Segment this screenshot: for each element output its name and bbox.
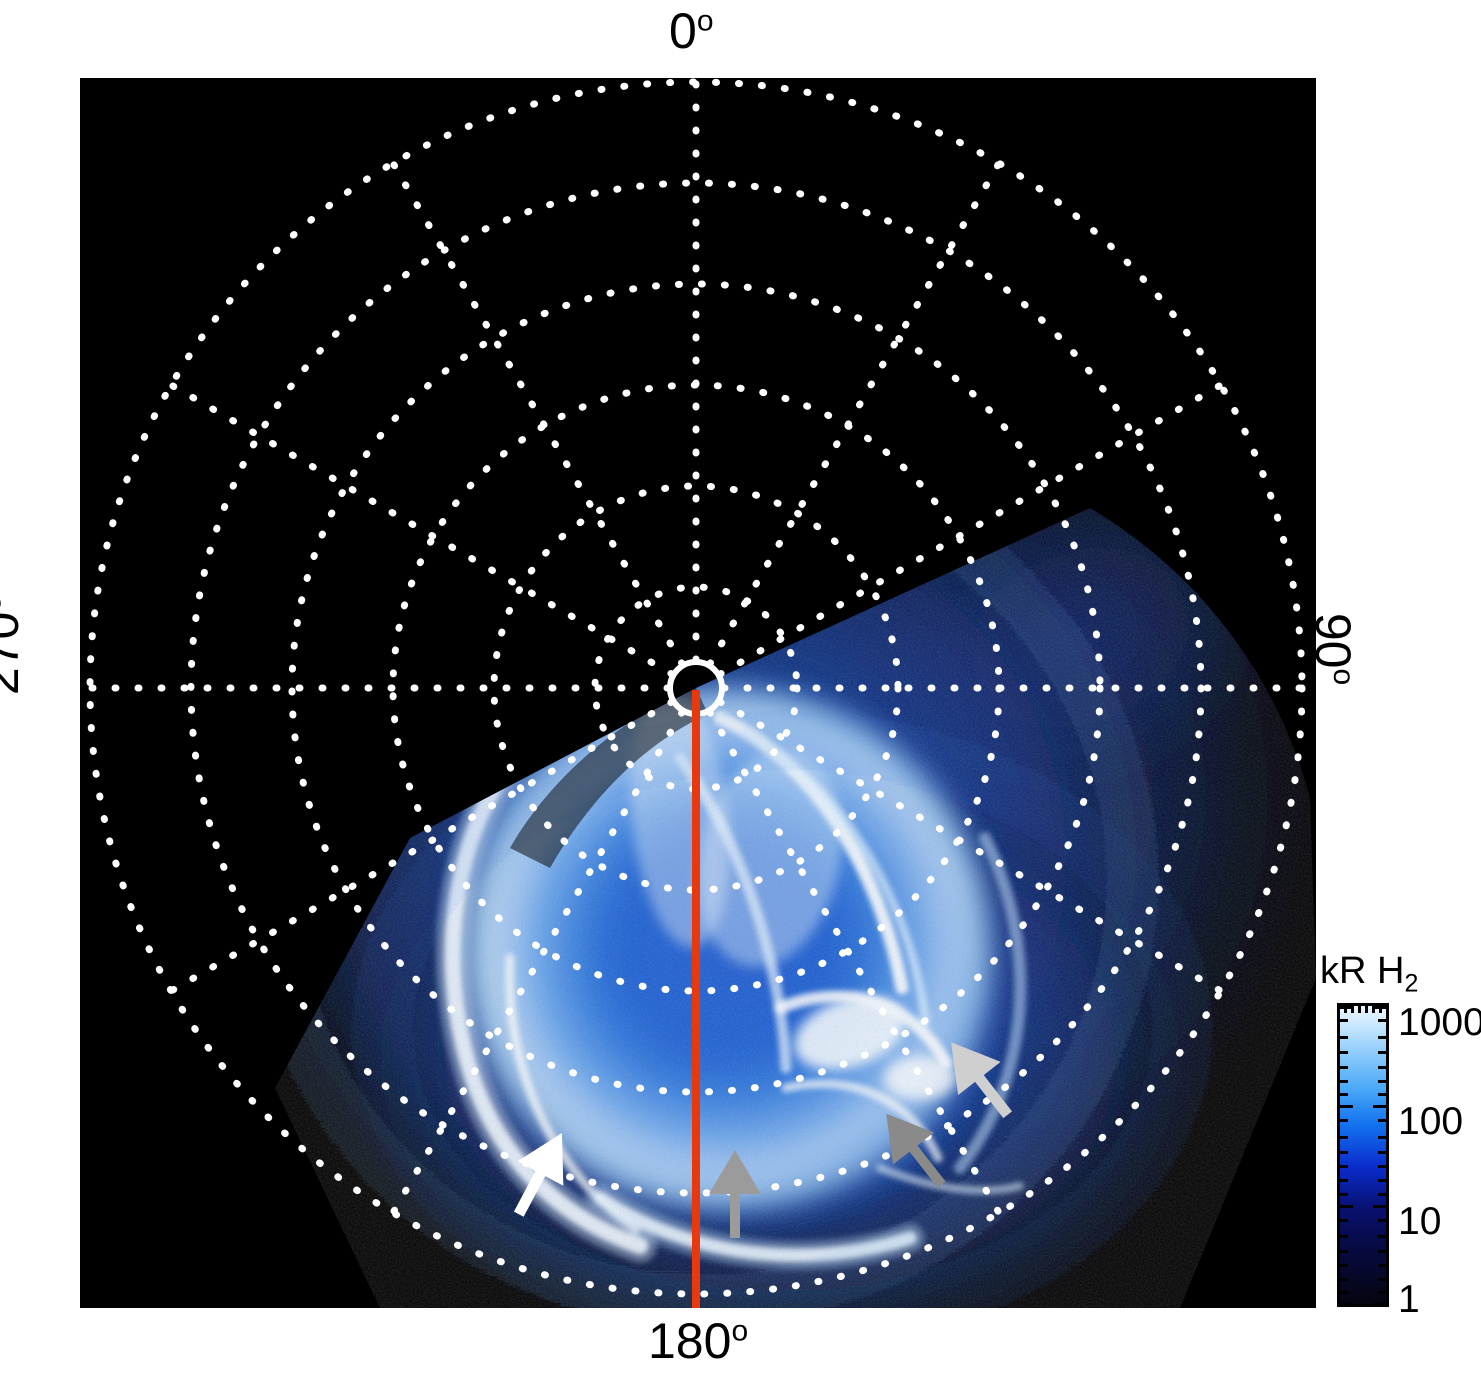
colorbar-minor-tick xyxy=(1340,1278,1348,1281)
colorbar-minor-tick xyxy=(1378,1235,1386,1238)
colorbar-minor-tick xyxy=(1378,1165,1386,1168)
colorbar-minor-tick xyxy=(1378,1136,1386,1139)
colorbar-minor-tick xyxy=(1340,1235,1348,1238)
colorbar-minor-tick xyxy=(1378,1250,1386,1253)
colorbar-minor-tick xyxy=(1340,1151,1348,1154)
colorbar-minor-tick xyxy=(1378,1080,1386,1083)
colorbar-top-tick xyxy=(1344,1006,1347,1013)
colorbar-minor-tick xyxy=(1378,1264,1386,1267)
colorbar-minor-tick xyxy=(1340,1066,1348,1069)
colorbar-minor-tick xyxy=(1378,1019,1386,1022)
axis-label-180deg: 180o xyxy=(648,1316,748,1366)
colorbar-minor-tick xyxy=(1378,1093,1386,1096)
figure-root: 0o 180o 270o 90o xyxy=(0,0,1481,1386)
colorbar-minor-tick xyxy=(1340,1036,1348,1039)
colorbar-top-tick xyxy=(1379,1006,1382,1013)
colorbar-minor-tick xyxy=(1378,1151,1386,1154)
axis-label-270deg: 270o xyxy=(0,595,26,695)
colorbar-minor-tick xyxy=(1340,1136,1348,1139)
colorbar-minor-tick xyxy=(1340,1119,1348,1122)
colorbar-top-tick xyxy=(1372,1006,1375,1013)
colorbar-tick-100-right xyxy=(1373,1105,1386,1108)
colorbar-minor-tick xyxy=(1340,1291,1348,1294)
colorbar-label-1: 1 xyxy=(1398,1280,1420,1319)
colorbar-minor-tick xyxy=(1340,1165,1348,1168)
colorbar-top-tick xyxy=(1365,1006,1368,1013)
colorbar-top-tick xyxy=(1351,1006,1354,1013)
colorbar-minor-tick xyxy=(1378,1036,1386,1039)
polar-image-svg xyxy=(80,78,1316,1308)
colorbar-gradient xyxy=(1337,1003,1389,1307)
colorbar-minor-tick xyxy=(1340,1093,1348,1096)
polar-plot-area xyxy=(80,78,1316,1308)
colorbar-minor-tick xyxy=(1378,1119,1386,1122)
colorbar-label-1000: 1000 xyxy=(1398,1003,1481,1042)
colorbar-minor-tick xyxy=(1340,1080,1348,1083)
colorbar-minor-tick xyxy=(1340,1019,1348,1022)
colorbar-minor-tick xyxy=(1378,1193,1386,1196)
colorbar-minor-tick xyxy=(1340,1219,1348,1222)
colorbar-label-10: 10 xyxy=(1398,1202,1441,1241)
colorbar-top-tick xyxy=(1358,1006,1361,1013)
colorbar-minor-tick xyxy=(1378,1291,1386,1294)
colorbar-tick-1-right xyxy=(1373,1303,1386,1306)
axis-label-0deg: 0o xyxy=(669,6,714,56)
colorbar-minor-tick xyxy=(1340,1179,1348,1182)
colorbar-tick-1-left xyxy=(1340,1303,1353,1306)
colorbar-label-100: 100 xyxy=(1398,1102,1463,1141)
colorbar-minor-tick xyxy=(1378,1066,1386,1069)
colorbar-group: kR H2 xyxy=(1318,950,1481,1330)
colorbar-minor-tick xyxy=(1378,1179,1386,1182)
colorbar-minor-tick xyxy=(1378,1219,1386,1222)
colorbar-minor-tick xyxy=(1340,1250,1348,1253)
colorbar-tick-100-left xyxy=(1340,1105,1353,1108)
colorbar-title: kR H2 xyxy=(1320,950,1418,999)
colorbar-minor-tick xyxy=(1340,1051,1348,1054)
colorbar-minor-tick xyxy=(1340,1193,1348,1196)
colorbar-minor-tick xyxy=(1378,1278,1386,1281)
colorbar-tick-10-left xyxy=(1340,1205,1353,1208)
colorbar-minor-tick xyxy=(1378,1051,1386,1054)
colorbar-minor-tick xyxy=(1340,1264,1348,1267)
colorbar-tick-10-right xyxy=(1373,1205,1386,1208)
